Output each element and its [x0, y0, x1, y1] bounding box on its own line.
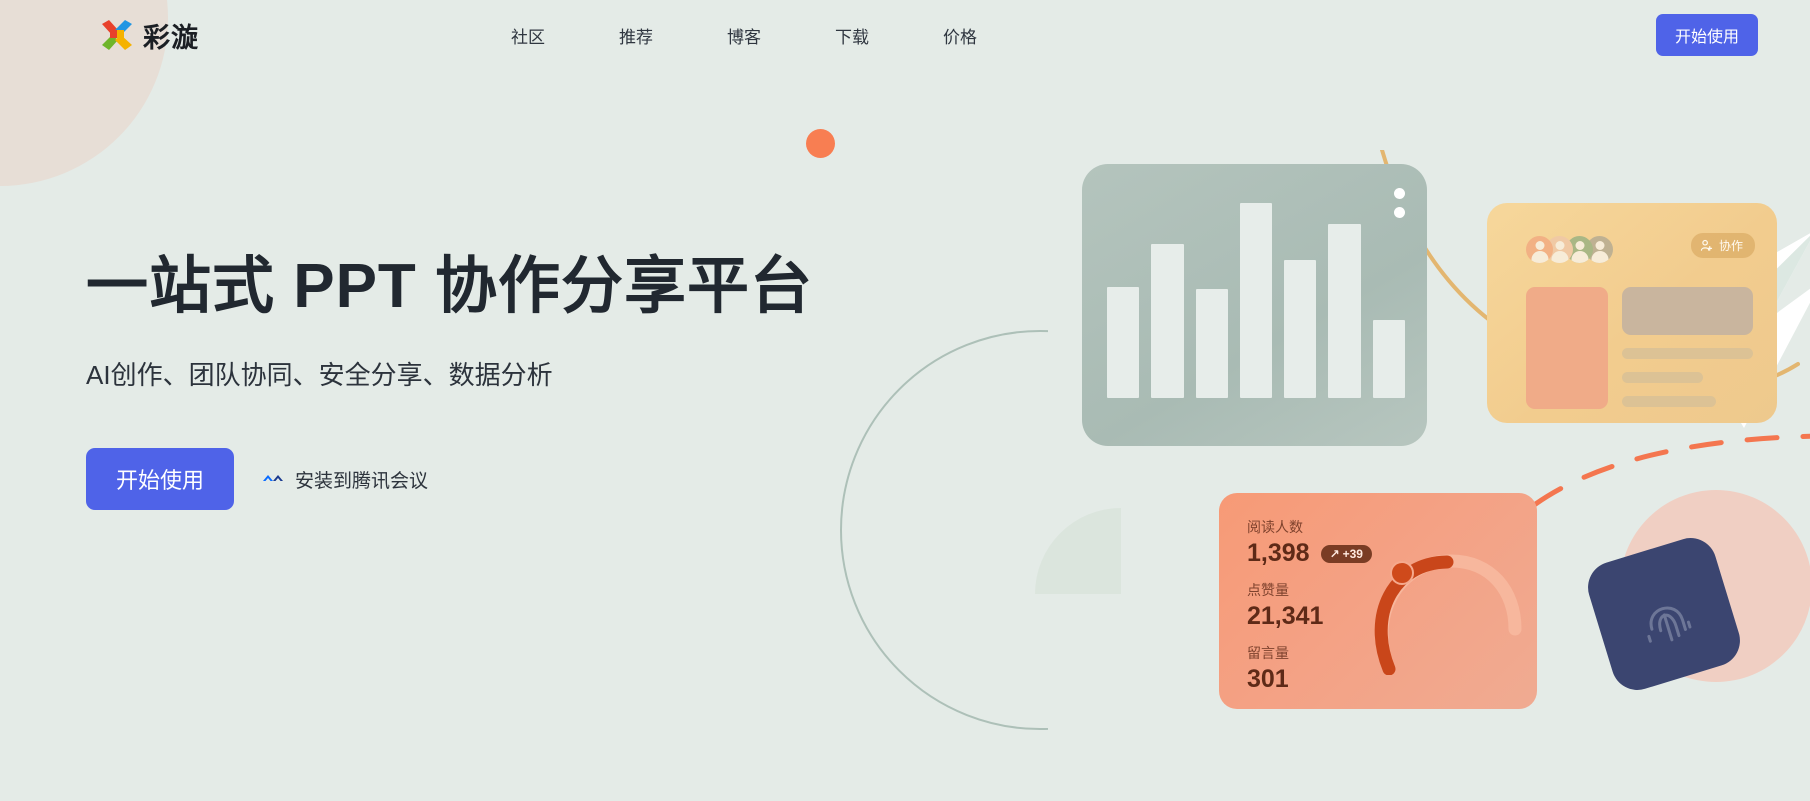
- avatar-group: [1526, 236, 1606, 263]
- stat-row-comments: 留言量 301: [1247, 643, 1372, 694]
- brand-name: 彩漩: [143, 16, 199, 55]
- avatar: [1566, 236, 1593, 263]
- stat-row-likes: 点赞量 21,341: [1247, 580, 1372, 631]
- stat-row-reads: 阅读人数 1,398 ↗ +39: [1247, 517, 1372, 568]
- security-tile: [1582, 532, 1747, 697]
- stat-trend-badge: ↗ +39: [1321, 545, 1372, 563]
- collaboration-card: 协作: [1487, 203, 1777, 423]
- fingerprint-icon: [1623, 573, 1705, 655]
- hero-get-started-button[interactable]: 开始使用: [86, 448, 234, 510]
- main-navigation: 社区 推荐 博客 下载 价格: [511, 23, 977, 48]
- two-dots-icon: [1394, 188, 1405, 218]
- orange-dashed-arc: [1490, 430, 1810, 550]
- quarter-leaf-shape: [1035, 508, 1121, 594]
- colorful-x-logo-icon: [100, 18, 134, 52]
- nav-item-blog[interactable]: 博客: [727, 23, 761, 48]
- install-tencent-meeting-link[interactable]: 安装到腾讯会议: [262, 466, 428, 493]
- install-tencent-meeting-label: 安装到腾讯会议: [295, 466, 428, 493]
- bar-2: [1151, 244, 1183, 398]
- avatar: [1526, 236, 1553, 263]
- brand-logo[interactable]: 彩漩: [100, 16, 199, 55]
- stat-value: 301: [1247, 665, 1372, 694]
- stat-value: 1,398 ↗ +39: [1247, 539, 1372, 568]
- amber-curve-line: [1380, 150, 1800, 510]
- stat-value: 21,341: [1247, 602, 1372, 631]
- bar-6: [1328, 224, 1360, 398]
- collab-card-body: [1526, 287, 1753, 409]
- collab-content-line: [1622, 372, 1703, 383]
- nav-item-pricing[interactable]: 价格: [943, 23, 977, 48]
- nav-item-recommend[interactable]: 推荐: [619, 23, 653, 48]
- collab-content-line: [1622, 396, 1716, 407]
- collab-panel-left: [1526, 287, 1608, 409]
- collab-content-line: [1622, 348, 1753, 359]
- bar-chart: [1107, 203, 1405, 398]
- stat-number: 1,398: [1247, 539, 1310, 568]
- collab-content-block: [1622, 287, 1753, 335]
- stat-label: 阅读人数: [1247, 517, 1372, 537]
- hero-title: 一站式 PPT 协作分享平台: [86, 252, 813, 321]
- stats-list: 阅读人数 1,398 ↗ +39 点赞量 21,341 留言量 301: [1247, 517, 1372, 694]
- bar-1: [1107, 287, 1139, 398]
- user-plus-icon: [1700, 239, 1713, 252]
- stat-label: 留言量: [1247, 643, 1372, 663]
- bar-4: [1240, 203, 1272, 398]
- orange-dot-shape: [806, 129, 835, 158]
- arrow-up-right-icon: ↗: [1330, 547, 1340, 561]
- bar-5: [1284, 260, 1316, 398]
- nav-item-download[interactable]: 下载: [835, 23, 869, 48]
- analytics-chart-card: [1082, 164, 1427, 446]
- nav-item-community[interactable]: 社区: [511, 23, 545, 48]
- collab-panel-right: [1622, 287, 1753, 409]
- hero-section: 一站式 PPT 协作分享平台 AI创作、团队协同、安全分享、数据分析 开始使用 …: [86, 252, 813, 510]
- site-header: 彩漩 社区 推荐 博客 下载 价格 开始使用: [0, 0, 1810, 70]
- avatar: [1546, 236, 1573, 263]
- stat-trend-value: +39: [1343, 547, 1363, 561]
- stats-card: 阅读人数 1,398 ↗ +39 点赞量 21,341 留言量 301: [1219, 493, 1537, 709]
- gauge-knob: [1390, 561, 1414, 585]
- stat-label: 点赞量: [1247, 580, 1372, 600]
- hero-subtitle: AI创作、团队协同、安全分享、数据分析: [86, 355, 813, 392]
- pink-circle-shape: [1620, 490, 1810, 682]
- progress-arc-icon: [1373, 545, 1523, 675]
- tencent-meeting-icon: [262, 468, 284, 490]
- avatar: [1586, 236, 1613, 263]
- thin-arc-ring-shape: [840, 330, 1240, 730]
- collab-badge: 协作: [1691, 233, 1755, 258]
- bar-3: [1196, 289, 1228, 398]
- bar-7: [1373, 320, 1405, 398]
- header-get-started-button[interactable]: 开始使用: [1656, 14, 1758, 56]
- collab-badge-label: 协作: [1719, 237, 1743, 254]
- hero-actions: 开始使用 安装到腾讯会议: [86, 448, 813, 510]
- paper-plane-icon: [1592, 228, 1810, 428]
